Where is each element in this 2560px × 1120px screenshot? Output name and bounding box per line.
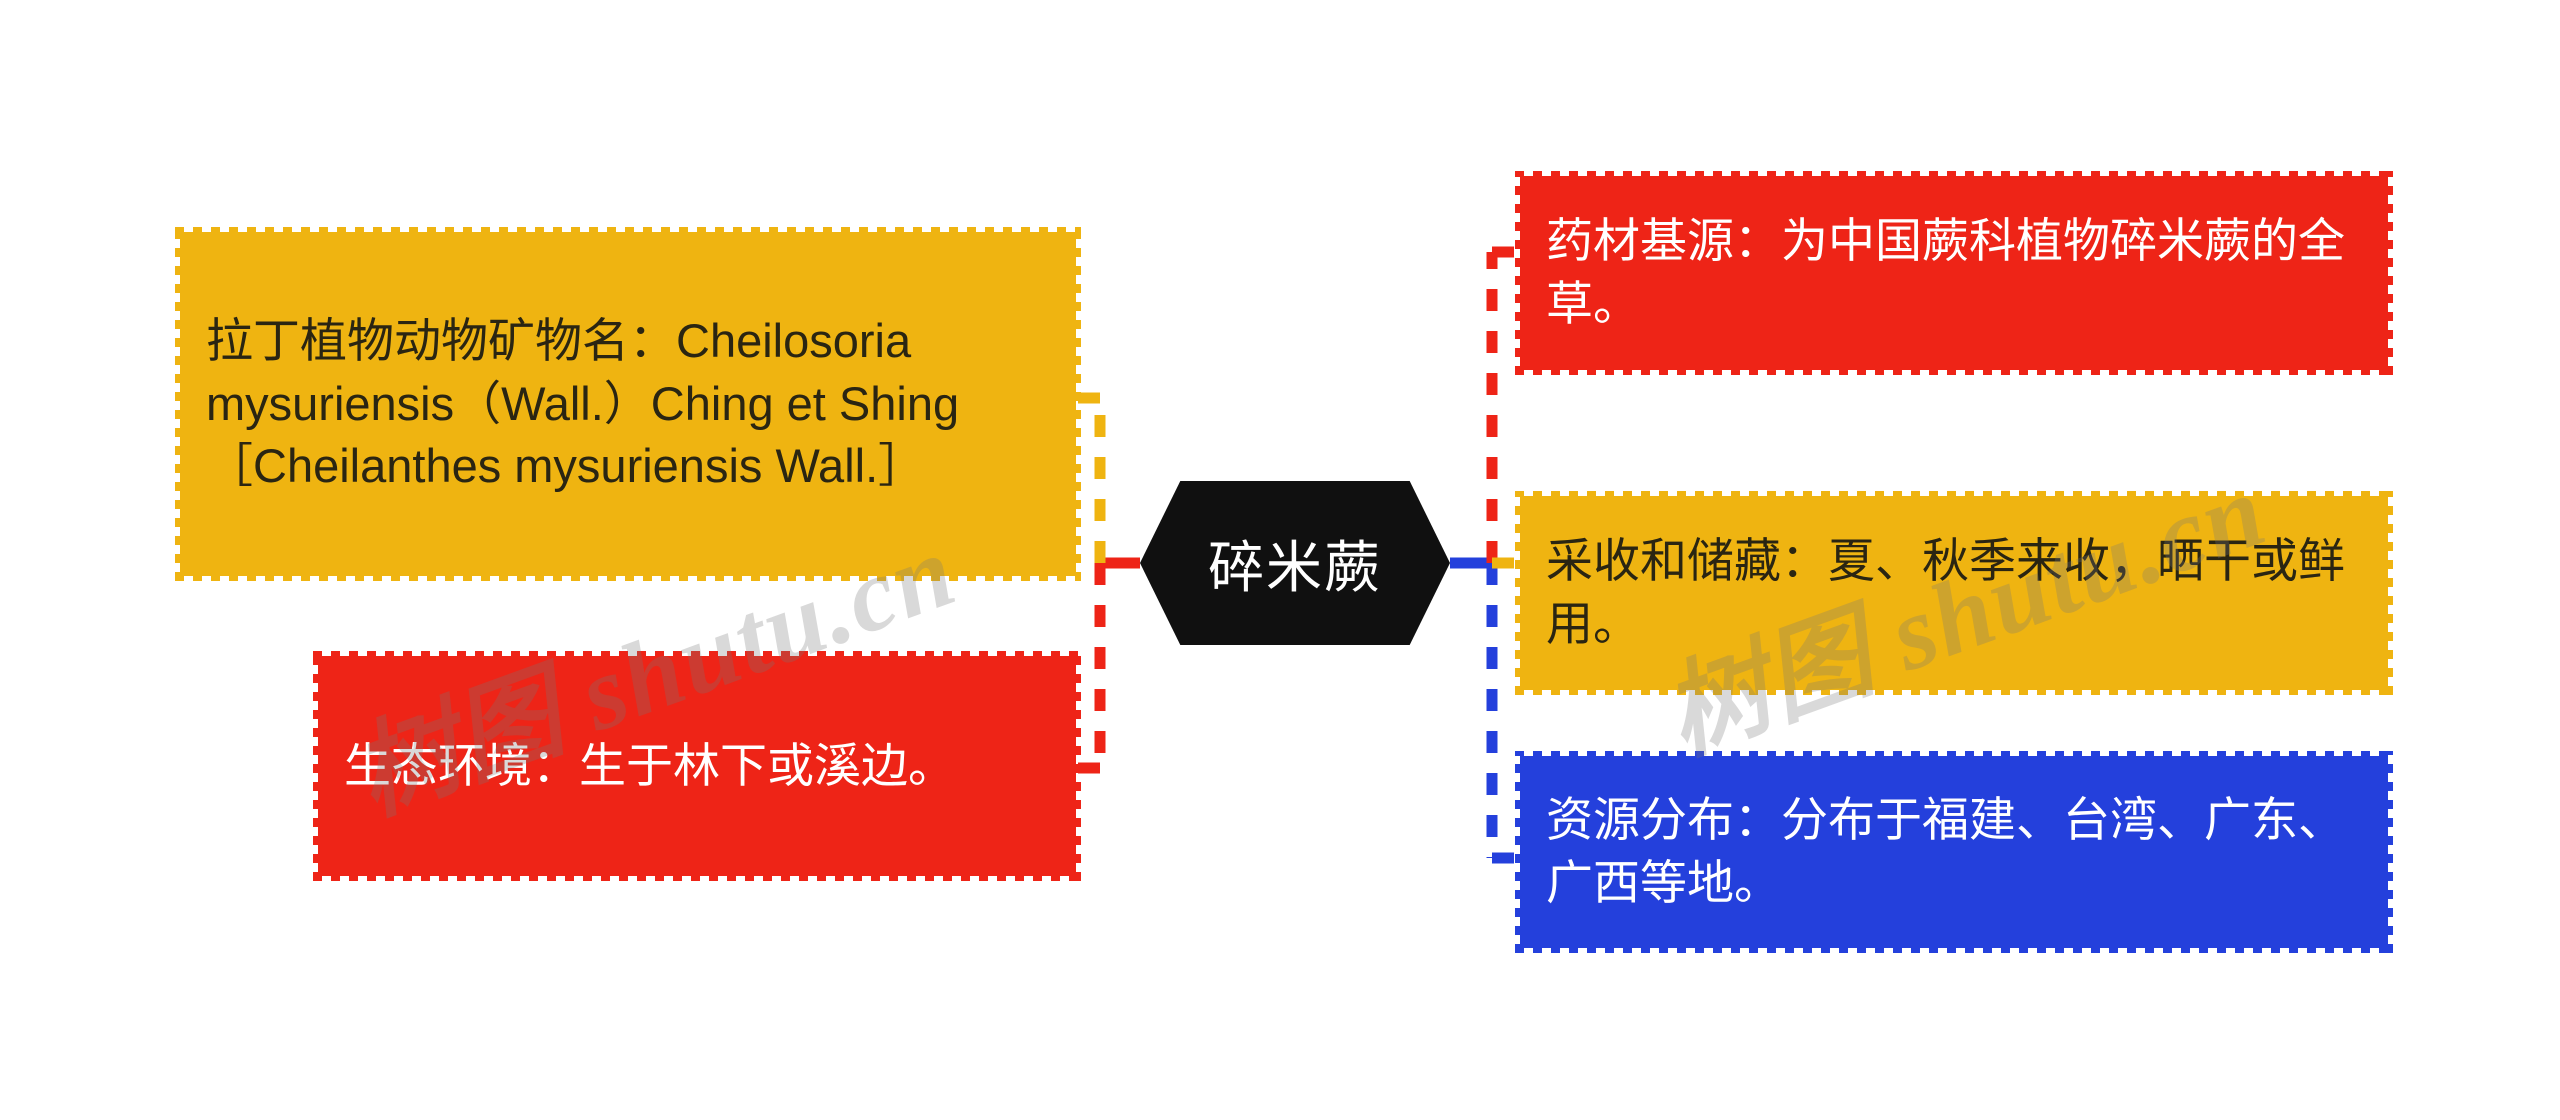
mindmap-canvas: 拉丁植物动物矿物名：Cheilosoria mysuriensis（Wall.）… (0, 0, 2560, 1120)
watermark-right: 树图 shutu.cn (1640, 425, 2283, 782)
root-node[interactable]: 碎米蕨 (1140, 481, 1450, 645)
root-node-label: 碎米蕨 (1208, 523, 1382, 604)
watermark-left: 树图 shutu.cn (330, 485, 973, 842)
